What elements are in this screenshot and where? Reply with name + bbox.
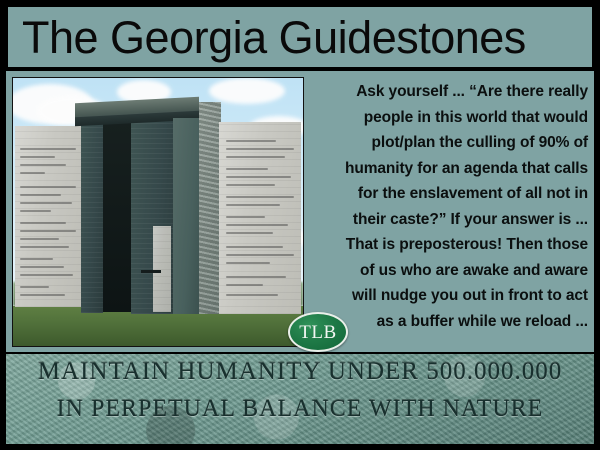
guidestones-photo <box>12 77 304 347</box>
quote-line: for the enslavement of all not in <box>312 181 588 207</box>
poster-image: The Georgia Guidestones <box>0 0 600 450</box>
quote-line: humanity for an agenda that calls <box>312 156 588 182</box>
granite-slot <box>141 270 161 273</box>
quote-line: of us who are awake and aware <box>312 258 588 284</box>
granite-slab-right <box>219 122 301 314</box>
granite-slab-left <box>15 126 81 307</box>
content-panel: Ask yourself ... “Are there really peopl… <box>6 71 594 352</box>
granite-slab-right-inner <box>173 118 201 314</box>
quote-line: people in this world that would <box>312 105 588 131</box>
granite-light-wedge <box>153 226 171 312</box>
quote-line: plot/plan the culling of 90% of <box>312 130 588 156</box>
cloud-shape <box>209 78 285 104</box>
stone-inscription-band: MAINTAIN HUMANITY UNDER 500.000.000 IN P… <box>6 354 594 444</box>
stone-inscription-line-1: MAINTAIN HUMANITY UNDER 500.000.000 <box>6 358 594 386</box>
granite-rough-edge <box>199 102 221 314</box>
title-bar: The Georgia Guidestones <box>6 5 594 69</box>
granite-shadow-gap <box>103 122 131 312</box>
quote-line: That is preposterous! Then those <box>312 232 588 258</box>
tlb-logo-label: TLB <box>299 323 336 342</box>
page-title: The Georgia Guidestones <box>8 15 526 60</box>
quote-text-block: Ask yourself ... “Are there really peopl… <box>312 79 588 334</box>
quote-line: as a buffer while we reload ... <box>312 309 588 335</box>
quote-line: will nudge you out in front to act <box>312 283 588 309</box>
quote-line: their caste?” If your answer is ... <box>312 207 588 233</box>
tlb-logo[interactable]: TLB <box>288 312 348 352</box>
tlb-logo-oval: TLB <box>288 312 348 352</box>
stone-inscription-line-2: IN PERPETUAL BALANCE WITH NATURE <box>6 396 594 423</box>
quote-line: Ask yourself ... “Are there really <box>312 79 588 105</box>
granite-slab-center-left <box>81 118 103 313</box>
